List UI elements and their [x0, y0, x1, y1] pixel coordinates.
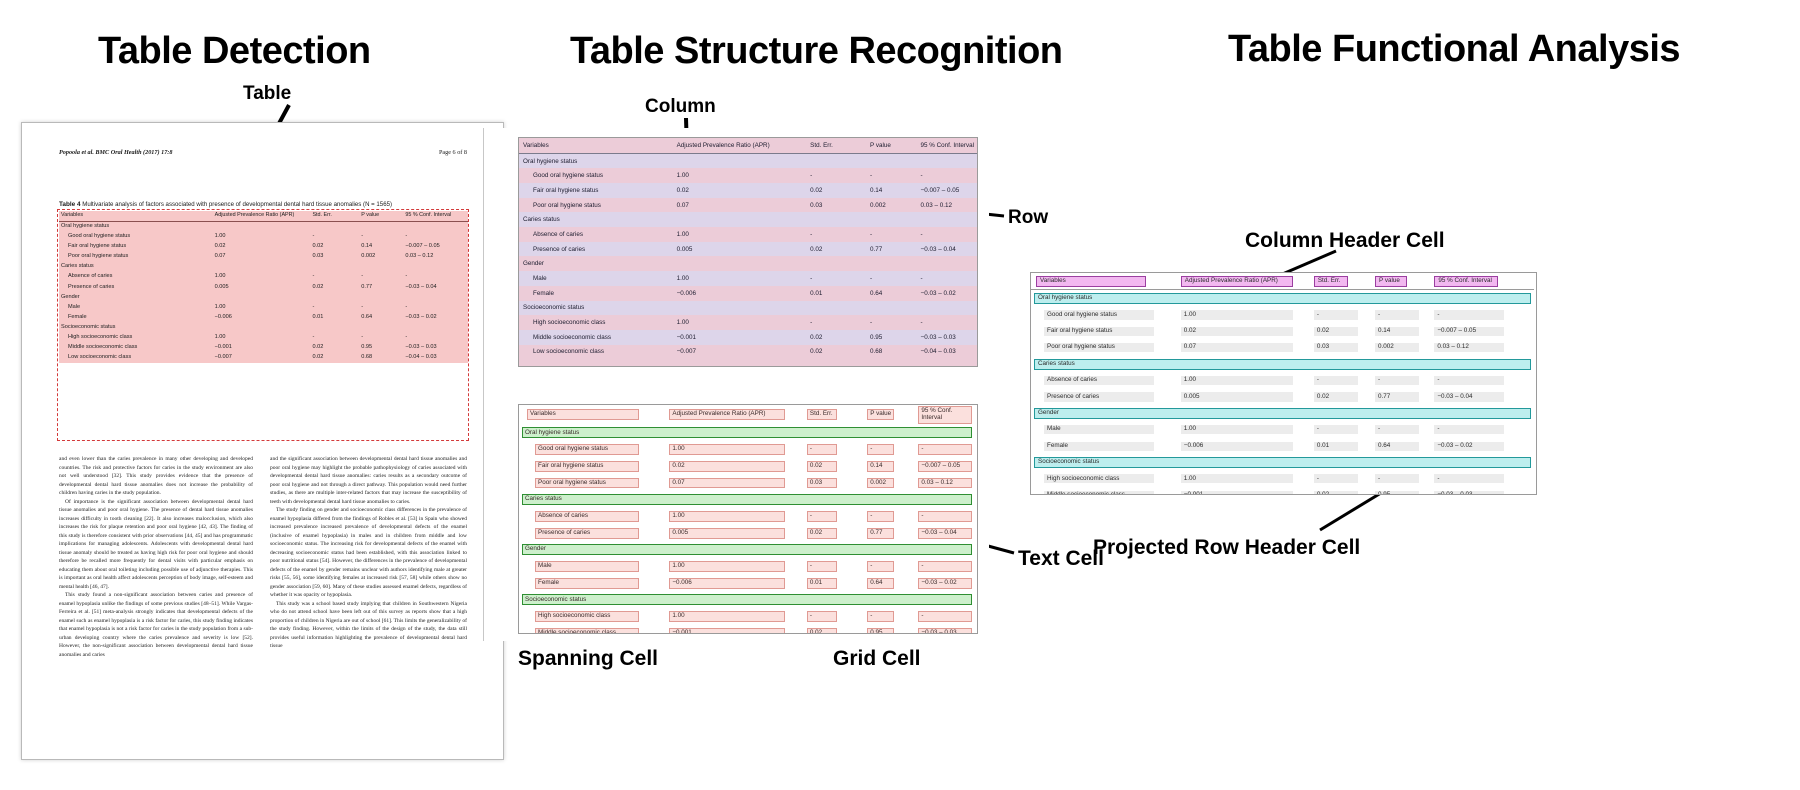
table-cell: −0.007 – 0.05 — [921, 183, 977, 198]
table-cell: - — [917, 558, 977, 575]
table-cell: 0.03 – 0.12 — [921, 198, 977, 213]
table-cell: 0.01 — [806, 575, 866, 592]
data-cell: 0.005 — [1181, 392, 1293, 401]
table-row: High socioeconomic class1.00--- — [519, 608, 977, 625]
table-cell: - — [870, 168, 920, 183]
table-row: Caries status — [519, 491, 977, 508]
table-caption-label: Table 4 — [59, 201, 81, 208]
grid-cell: - — [867, 561, 894, 572]
table-cell: 0.02 — [677, 183, 811, 198]
table-cell: 0.03 — [1313, 340, 1374, 356]
grid-cell: - — [807, 611, 837, 622]
table-row: Female−0.0060.010.64−0.03 – 0.02 — [1031, 438, 1534, 454]
body-paragraph: This study found a non-significant assoc… — [59, 591, 253, 659]
table-cell: - — [1374, 422, 1433, 438]
body-column-left: and even lower than the caries prevalenc… — [59, 455, 253, 659]
data-cell: Fair oral hygiene status — [1044, 327, 1154, 336]
table-cell: 0.02 — [810, 242, 870, 257]
table-row: Good oral hygiene status1.00--- — [519, 441, 977, 458]
table-cell: - — [1313, 422, 1374, 438]
table-cell: - — [1374, 307, 1433, 323]
data-cell: 0.002 — [1375, 343, 1419, 352]
spanning-cell-box: Caries status — [522, 494, 972, 505]
grid-cell: 0.02 — [807, 461, 837, 472]
table-caption-text: Multivariate analysis of factors associa… — [81, 201, 392, 208]
data-cell: −0.007 – 0.05 — [1434, 327, 1504, 336]
grid-cell: 0.07 — [669, 478, 785, 489]
projected-row-header-cell-box: Caries status — [1034, 359, 1531, 370]
projected-row-header-cell: Gender — [519, 257, 677, 272]
data-cell: - — [1314, 474, 1358, 483]
table-cell: 0.002 — [1374, 340, 1433, 356]
row-header-cell: Middle socioeconomic class — [1031, 487, 1180, 495]
callout-grid-cell: Grid Cell — [833, 647, 921, 671]
grid-cell: 0.03 — [807, 478, 837, 489]
grid-cell: 0.002 — [867, 478, 894, 489]
data-cell: - — [1434, 474, 1504, 483]
table-row: Good oral hygiene status1.00--- — [1031, 307, 1534, 323]
grid-cell: 0.02 — [807, 628, 837, 634]
data-cell: 0.03 – 0.12 — [1434, 343, 1504, 352]
table-cell: 1.00 — [668, 441, 806, 458]
table-row: Presence of caries0.0050.020.77−0.03 – 0… — [1031, 389, 1534, 405]
table-row: Oral hygiene status — [1031, 290, 1534, 307]
table-cell: - — [1433, 422, 1534, 438]
table-row: VariablesAdjusted Prevalence Ratio (APR)… — [1031, 273, 1534, 290]
table-row: Poor oral hygiene status0.070.030.0020.0… — [519, 198, 977, 213]
table-row: Middle socioeconomic class−0.0010.020.95… — [519, 330, 977, 345]
data-cell: −0.001 — [1181, 491, 1293, 495]
row-header-cell: Fair oral hygiene status — [519, 183, 677, 198]
table-row: VariablesAdjusted Prevalence Ratio (APR)… — [519, 138, 977, 153]
table-row: Fair oral hygiene status0.020.020.14−0.0… — [519, 183, 977, 198]
table-row: Absence of caries1.00--- — [1031, 372, 1534, 388]
structure-grid-top: VariablesAdjusted Prevalence Ratio (APR)… — [519, 138, 977, 359]
callout-column-header-cell: Column Header Cell — [1245, 229, 1445, 253]
page-running-head: Popoola et al. BMC Oral Health (2017) 17… — [59, 149, 467, 156]
column-header-cell-box: Std. Err. — [1314, 276, 1348, 287]
table-cell: - — [1313, 471, 1374, 487]
panel-title-table-functional-analysis: Table Functional Analysis — [1228, 28, 1680, 71]
table-cell: 0.07 — [668, 475, 806, 492]
table-cell: - — [917, 508, 977, 525]
table-row: Socioeconomic status — [519, 301, 977, 316]
grid-cell: −0.007 – 0.05 — [918, 461, 972, 472]
table-cell: 1.00 — [677, 168, 811, 183]
data-cell: Female — [1044, 442, 1154, 451]
spanning-cell: Oral hygiene status — [519, 425, 977, 442]
data-cell: 1.00 — [1181, 474, 1293, 483]
figure-root: Table Detection Table Structure Recognit… — [0, 0, 1800, 790]
functional-analysis-table: VariablesAdjusted Prevalence Ratio (APR)… — [1030, 272, 1537, 495]
table-cell: - — [1433, 471, 1534, 487]
structure-grid-top-body: VariablesAdjusted Prevalence Ratio (APR)… — [519, 138, 977, 359]
row-header-cell: Good oral hygiene status — [1031, 307, 1180, 323]
grid-cell: 0.14 — [867, 461, 894, 472]
table-cell: 0.77 — [1374, 389, 1433, 405]
data-cell: 0.14 — [1375, 327, 1419, 336]
table-cell: 0.01 — [810, 286, 870, 301]
grid-cell: Adjusted Prevalence Ratio (APR) — [669, 409, 785, 420]
text-cell: Male — [535, 561, 639, 572]
row-header-cell: Low socioeconomic class — [519, 345, 677, 360]
table-row: Absence of caries1.00--- — [519, 508, 977, 525]
body-paragraph: and the significant association between … — [270, 455, 467, 506]
structure-grid-bottom: VariablesAdjusted Prevalence Ratio (APR)… — [519, 405, 977, 634]
grid-cell: −0.006 — [669, 578, 785, 589]
table-cell: 0.14 — [1374, 323, 1433, 339]
data-cell: - — [1375, 310, 1419, 319]
grid-cell: - — [867, 511, 894, 522]
table-cell: - — [921, 168, 977, 183]
table-cell: - — [806, 558, 866, 575]
column-header-cell: Variables — [519, 405, 668, 425]
table-cell: 0.002 — [870, 198, 920, 213]
grid-cell: P value — [867, 409, 894, 420]
table-cell: 1.00 — [668, 558, 806, 575]
grid-cell: - — [867, 444, 894, 455]
body-paragraph: and even lower than the caries prevalenc… — [59, 455, 253, 498]
text-cell: Poor oral hygiene status — [535, 478, 639, 489]
grid-cell: - — [918, 611, 972, 622]
data-cell: −0.03 – 0.04 — [1434, 392, 1504, 401]
table-cell: 0.02 — [806, 525, 866, 542]
table-cell: −0.03 – 0.03 — [1433, 487, 1534, 495]
table-row: Poor oral hygiene status0.070.030.0020.0… — [1031, 340, 1534, 356]
table-cell: - — [810, 168, 870, 183]
table-cell: - — [1433, 307, 1534, 323]
grid-cell: Std. Err. — [807, 409, 837, 420]
row-header-cell: Female — [1031, 438, 1180, 454]
table-cell: - — [866, 508, 917, 525]
data-cell: 0.77 — [1375, 392, 1419, 401]
spanning-cell: Socioeconomic status — [519, 591, 977, 608]
table-cell: - — [1313, 372, 1374, 388]
table-cell: - — [870, 227, 920, 242]
table-cell: 0.02 — [810, 183, 870, 198]
column-header-cell: P value — [1374, 273, 1433, 290]
data-cell: 0.02 — [1181, 327, 1293, 336]
data-cell: Good oral hygiene status — [1044, 310, 1154, 319]
table-row: Middle socioeconomic class−0.0010.020.95… — [1031, 487, 1534, 495]
table-row: High socioeconomic class1.00--- — [1031, 471, 1534, 487]
spanning-cell: Gender — [519, 541, 977, 558]
running-head-right: Page 6 of 8 — [439, 149, 467, 156]
table-row: Gender — [519, 257, 977, 272]
table-cell: −0.03 – 0.02 — [1433, 438, 1534, 454]
table-cell: −0.03 – 0.04 — [1433, 389, 1534, 405]
table-cell: 0.07 — [677, 198, 811, 213]
column-header-cell-box: Variables — [1036, 276, 1146, 287]
grid-cell: −0.03 – 0.02 — [918, 578, 972, 589]
table-cell: 1.00 — [1180, 372, 1313, 388]
column-header-cell-box: P value — [1375, 276, 1407, 287]
grid-cell: 1.00 — [669, 611, 785, 622]
panel-title-table-detection: Table Detection — [98, 30, 371, 73]
row-header-cell: Fair oral hygiene status — [519, 458, 668, 475]
table-cell: 1.00 — [677, 227, 811, 242]
table-cell — [921, 153, 977, 168]
data-cell: - — [1434, 425, 1504, 434]
column-header-cell: Std. Err. — [810, 138, 870, 153]
text-cell: Fair oral hygiene status — [535, 461, 639, 472]
table-cell: −0.03 – 0.02 — [921, 286, 977, 301]
column-header-cell: Adjusted Prevalence Ratio (APR) — [1180, 273, 1313, 290]
data-cell: −0.03 – 0.03 — [1434, 491, 1504, 495]
table-row: Male1.00--- — [1031, 422, 1534, 438]
column-header-cell: 95 % Conf. Interval — [921, 138, 977, 153]
row-header-cell: High socioeconomic class — [519, 315, 677, 330]
table-cell: 0.14 — [870, 183, 920, 198]
table-cell — [870, 257, 920, 272]
table-cell: 0.02 — [810, 345, 870, 360]
table-cell: −0.03 – 0.02 — [917, 575, 977, 592]
data-cell: 0.95 — [1375, 491, 1419, 495]
grid-cell: 0.01 — [807, 578, 837, 589]
table-row: Male1.00--- — [519, 271, 977, 286]
column-header-cell: Std. Err. — [1313, 273, 1374, 290]
table-row: Oral hygiene status — [519, 153, 977, 168]
row-header-cell: Male — [1031, 422, 1180, 438]
table-row: Gender — [519, 541, 977, 558]
data-cell: −0.006 — [1181, 442, 1293, 451]
table-cell: −0.001 — [668, 625, 806, 634]
table-cell: 0.03 – 0.12 — [1433, 340, 1534, 356]
data-cell: - — [1375, 474, 1419, 483]
table-cell — [921, 301, 977, 316]
callout-projected-row-header-cell: Projected Row Header Cell — [1093, 536, 1360, 560]
grid-cell: 0.02 — [669, 461, 785, 472]
table-cell: −0.03 – 0.03 — [917, 625, 977, 634]
table-cell: - — [810, 315, 870, 330]
grid-cell: 0.64 — [867, 578, 894, 589]
table-cell: - — [866, 441, 917, 458]
table-cell: 0.02 — [668, 458, 806, 475]
table-cell: 0.03 — [806, 475, 866, 492]
spanning-cell-box: Oral hygiene status — [522, 427, 972, 438]
spanning-cell-box: Gender — [522, 544, 972, 555]
callout-text-cell: Text Cell — [1018, 547, 1104, 571]
table-cell: - — [917, 441, 977, 458]
body-paragraph: The study finding on gender and socioeco… — [270, 506, 467, 600]
table-caption: Table 4 Multivariate analysis of factors… — [59, 201, 469, 208]
table-cell: - — [806, 508, 866, 525]
panel-title-table-structure-recognition: Table Structure Recognition — [570, 30, 1063, 73]
table-row: High socioeconomic class1.00--- — [519, 315, 977, 330]
structure-table-cells: VariablesAdjusted Prevalence Ratio (APR)… — [518, 404, 978, 634]
running-head-left: Popoola et al. BMC Oral Health (2017) 17… — [59, 149, 172, 156]
table-cell: −0.04 – 0.03 — [921, 345, 977, 360]
row-header-cell: Presence of caries — [1031, 389, 1180, 405]
data-cell: 0.02 — [1314, 491, 1358, 495]
table-cell — [810, 257, 870, 272]
text-cell: Female — [535, 578, 639, 589]
data-cell: 0.07 — [1181, 343, 1293, 352]
grid-cell: 0.77 — [867, 528, 894, 539]
table-cell — [870, 153, 920, 168]
table-cell: 0.02 — [1313, 487, 1374, 495]
table-row: Presence of caries0.0050.020.77−0.03 – 0… — [519, 242, 977, 257]
text-cell: Absence of caries — [535, 511, 639, 522]
grid-cell: - — [807, 444, 837, 455]
data-cell: −0.03 – 0.02 — [1434, 442, 1504, 451]
table-cell — [921, 257, 977, 272]
table-cell: 0.68 — [870, 345, 920, 360]
table-cell — [677, 257, 811, 272]
functional-grid: VariablesAdjusted Prevalence Ratio (APR)… — [1031, 273, 1534, 495]
grid-cell: 1.00 — [669, 511, 785, 522]
projected-row-header-cell: Caries status — [1031, 356, 1534, 372]
structure-grid-bottom-body: VariablesAdjusted Prevalence Ratio (APR)… — [519, 405, 977, 634]
data-cell: - — [1375, 425, 1419, 434]
table-cell — [677, 212, 811, 227]
table-cell: 1.00 — [677, 315, 811, 330]
data-cell: 1.00 — [1181, 376, 1293, 385]
table-cell: 0.64 — [870, 286, 920, 301]
table-cell: 1.00 — [668, 508, 806, 525]
callout-row: Row — [1008, 207, 1048, 229]
table-cell: 1.00 — [1180, 471, 1313, 487]
table-cell: 0.07 — [1180, 340, 1313, 356]
table-cell: 0.95 — [866, 625, 917, 634]
data-cell: 1.00 — [1181, 310, 1293, 319]
table-cell: −0.03 – 0.04 — [921, 242, 977, 257]
table-cell: 0.03 – 0.12 — [917, 475, 977, 492]
table-row: Gender — [1031, 405, 1534, 421]
table-cell: 0.01 — [1313, 438, 1374, 454]
table-cell: 0.005 — [668, 525, 806, 542]
table-cell: −0.007 – 0.05 — [917, 458, 977, 475]
text-cell: Presence of caries — [535, 528, 639, 539]
row-header-cell: Fair oral hygiene status — [1031, 323, 1180, 339]
table-cell: 0.14 — [866, 458, 917, 475]
table-row: Female−0.0060.010.64−0.03 – 0.02 — [519, 575, 977, 592]
data-cell: - — [1434, 376, 1504, 385]
projected-row-header-cell: Oral hygiene status — [519, 153, 677, 168]
column-header-cell: P value — [870, 138, 920, 153]
projected-row-header-cell-box: Gender — [1034, 408, 1531, 419]
table-cell: 0.95 — [1374, 487, 1433, 495]
table-cell — [677, 153, 811, 168]
table-cell: −0.006 — [677, 286, 811, 301]
grid-cell: 0.02 — [807, 528, 837, 539]
table-cell: 0.77 — [870, 242, 920, 257]
table-detection-box — [57, 209, 469, 441]
table-row: Oral hygiene status — [519, 425, 977, 442]
grid-cell: - — [918, 511, 972, 522]
spanning-cell: Caries status — [519, 491, 977, 508]
table-cell: - — [921, 271, 977, 286]
table-cell: - — [806, 441, 866, 458]
column-header-cell-box: 95 % Conf. Interval — [1434, 276, 1498, 287]
column-header-cell: 95 % Conf. Interval — [1433, 273, 1534, 290]
table-cell: 1.00 — [1180, 422, 1313, 438]
table-row: Middle socioeconomic class−0.0010.020.95… — [519, 625, 977, 634]
table-cell: 0.95 — [870, 330, 920, 345]
column-header-cell: 95 % Conf. Interval — [917, 405, 977, 425]
row-header-cell: Presence of caries — [519, 525, 668, 542]
table-cell — [677, 301, 811, 316]
table-cell: 0.64 — [866, 575, 917, 592]
document-page: Popoola et al. BMC Oral Health (2017) 17… — [21, 122, 504, 760]
data-cell: 0.03 — [1314, 343, 1358, 352]
row-header-cell: Male — [519, 558, 668, 575]
table-row: Male1.00--- — [519, 558, 977, 575]
column-header-cell: Variables — [519, 138, 677, 153]
row-header-cell: Poor oral hygiene status — [519, 475, 668, 492]
table-cell — [921, 212, 977, 227]
data-cell: Middle socioeconomic class — [1044, 491, 1154, 495]
grid-cell: −0.001 — [669, 628, 785, 634]
table-cell: 0.02 — [1313, 323, 1374, 339]
data-cell: - — [1434, 310, 1504, 319]
data-cell: - — [1314, 310, 1358, 319]
data-cell: - — [1314, 376, 1358, 385]
table-cell — [870, 301, 920, 316]
grid-cell: - — [807, 511, 837, 522]
structure-table-rows-columns: VariablesAdjusted Prevalence Ratio (APR)… — [518, 137, 978, 367]
body-column-right: and the significant association between … — [270, 455, 467, 651]
table-cell: - — [921, 227, 977, 242]
grid-cell: −0.03 – 0.04 — [918, 528, 972, 539]
projected-row-header-cell: Oral hygiene status — [1031, 290, 1534, 307]
table-row: Fair oral hygiene status0.020.020.14−0.0… — [1031, 323, 1534, 339]
data-cell: Poor oral hygiene status — [1044, 343, 1154, 352]
table-cell: 1.00 — [1180, 307, 1313, 323]
text-cell: Good oral hygiene status — [535, 444, 639, 455]
table-row: VariablesAdjusted Prevalence Ratio (APR)… — [519, 405, 977, 425]
table-cell: −0.007 – 0.05 — [1433, 323, 1534, 339]
table-cell: 0.002 — [866, 475, 917, 492]
row-header-cell: Poor oral hygiene status — [519, 198, 677, 213]
data-cell: 1.00 — [1181, 425, 1293, 434]
grid-cell: 0.95 — [867, 628, 894, 634]
body-paragraph: This study was a school based study impl… — [270, 600, 467, 651]
table-cell: - — [1374, 372, 1433, 388]
text-cell: Middle socioeconomic class — [535, 628, 639, 634]
data-cell: 0.02 — [1314, 392, 1358, 401]
table-cell: - — [866, 608, 917, 625]
row-header-cell: High socioeconomic class — [1031, 471, 1180, 487]
column-header-cell-box: Adjusted Prevalence Ratio (APR) — [1181, 276, 1293, 287]
callout-column: Column — [645, 96, 716, 118]
spanning-cell-box: Socioeconomic status — [522, 594, 972, 605]
table-row: Fair oral hygiene status0.020.020.14−0.0… — [519, 458, 977, 475]
table-cell: - — [810, 227, 870, 242]
callout-spanning-cell: Spanning Cell — [518, 647, 658, 671]
row-header-cell: Absence of caries — [519, 227, 677, 242]
table-cell: 0.02 — [810, 330, 870, 345]
table-row: Socioeconomic status — [519, 591, 977, 608]
table-cell: −0.006 — [668, 575, 806, 592]
table-cell: - — [810, 271, 870, 286]
row-header-cell: Middle socioeconomic class — [519, 625, 668, 634]
data-cell: Presence of caries — [1044, 392, 1154, 401]
grid-cell: 0.005 — [669, 528, 785, 539]
table-cell — [810, 153, 870, 168]
table-row: Female−0.0060.010.64−0.03 – 0.02 — [519, 286, 977, 301]
grid-cell: - — [807, 561, 837, 572]
table-cell: 0.02 — [806, 458, 866, 475]
table-cell: 0.64 — [1374, 438, 1433, 454]
column-header-cell: Adjusted Prevalence Ratio (APR) — [668, 405, 806, 425]
column-header-cell: Variables — [1031, 273, 1180, 290]
table-cell: - — [870, 315, 920, 330]
row-header-cell: Male — [519, 271, 677, 286]
table-row: Absence of caries1.00--- — [519, 227, 977, 242]
table-cell: −0.03 – 0.03 — [921, 330, 977, 345]
row-header-cell: Presence of caries — [519, 242, 677, 257]
